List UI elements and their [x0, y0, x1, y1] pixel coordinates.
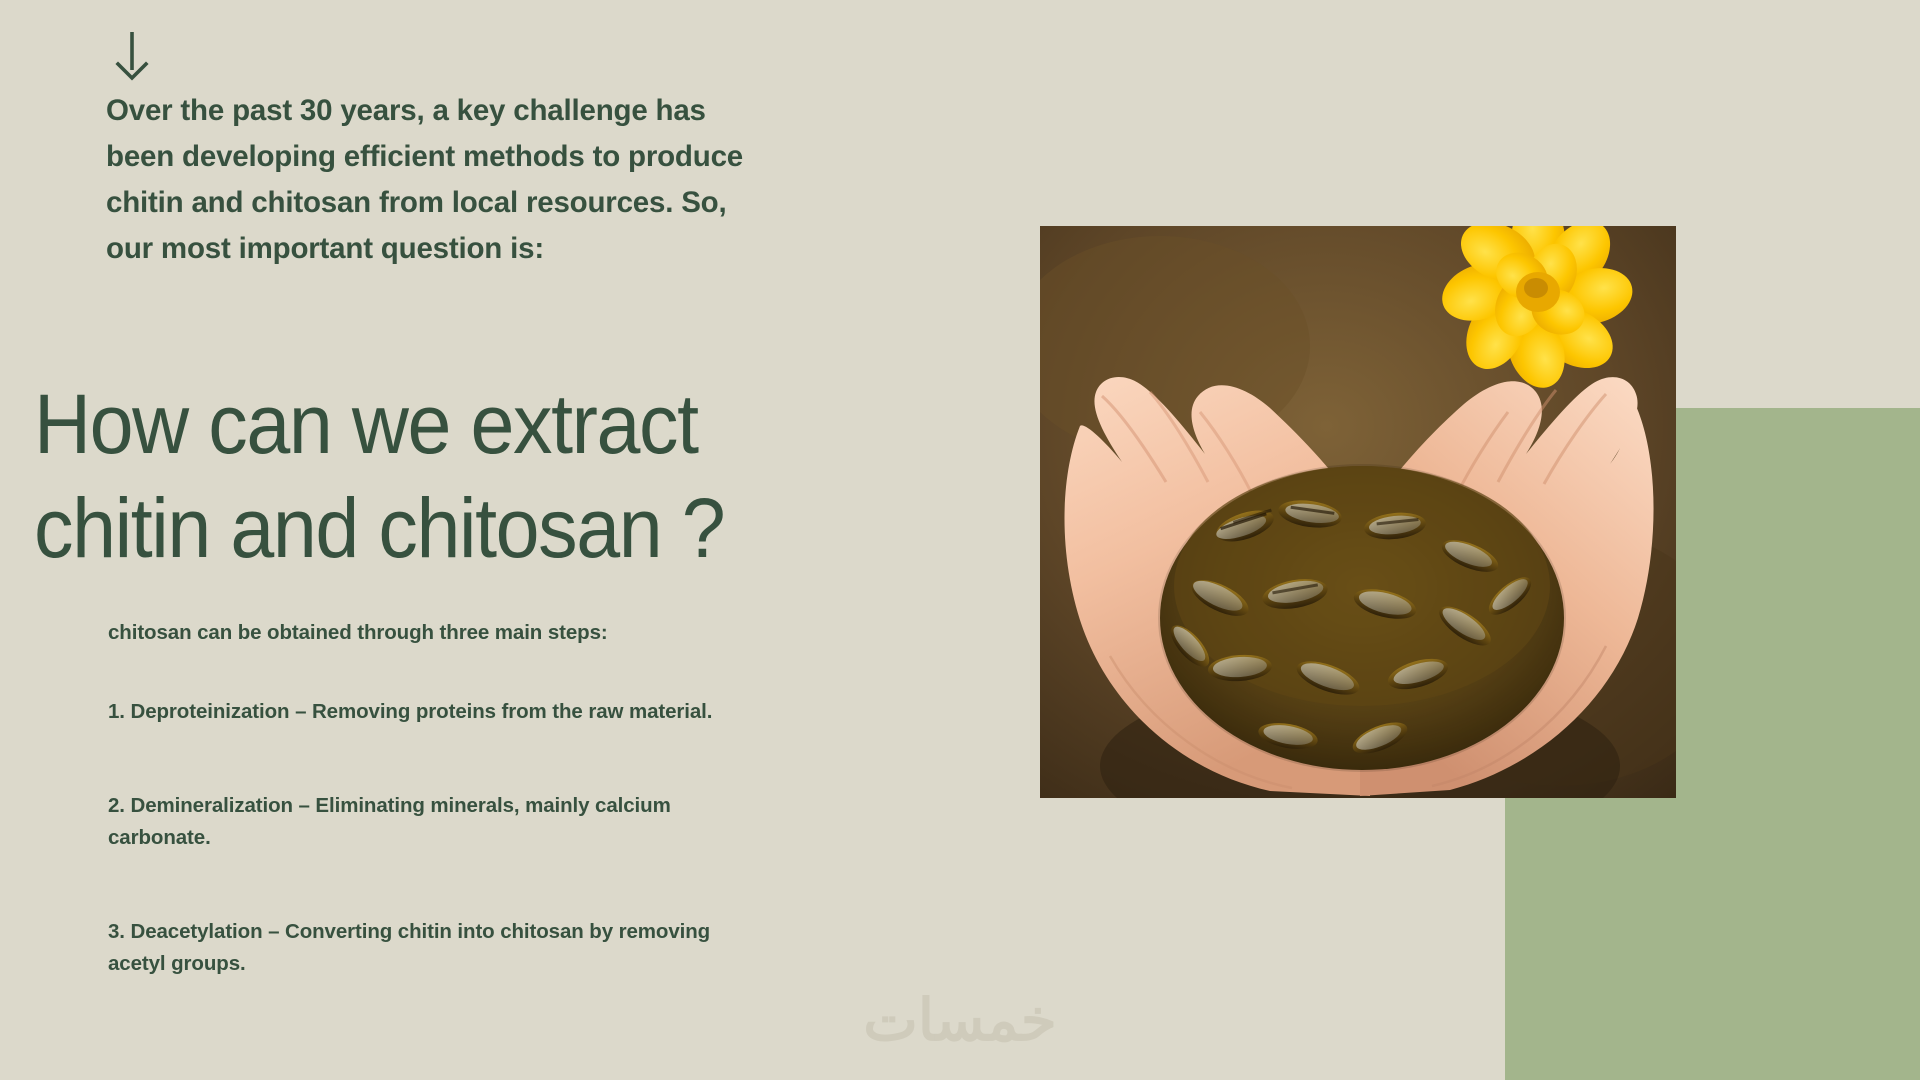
step-item-2: 2. Demineralization – Eliminating minera… — [108, 790, 768, 854]
page-title: How can we extract chitin and chitosan ? — [34, 372, 880, 580]
content-column: Over the past 30 years, a key challenge … — [0, 0, 1000, 1080]
bees-in-hands-photo — [1040, 226, 1676, 798]
steps-section: chitosan can be obtained through three m… — [108, 618, 768, 980]
down-arrow-icon — [108, 30, 156, 82]
photo-illustration — [1040, 226, 1676, 798]
step-item-3: 3. Deacetylation – Converting chitin int… — [108, 916, 768, 980]
steps-lead-text: chitosan can be obtained through three m… — [108, 618, 768, 648]
intro-paragraph: Over the past 30 years, a key challenge … — [106, 88, 746, 272]
slide-canvas: Over the past 30 years, a key challenge … — [0, 0, 1920, 1080]
step-item-1: 1. Deproteinization – Removing proteins … — [108, 696, 768, 728]
khamsat-watermark: خمسات — [815, 986, 1105, 1054]
